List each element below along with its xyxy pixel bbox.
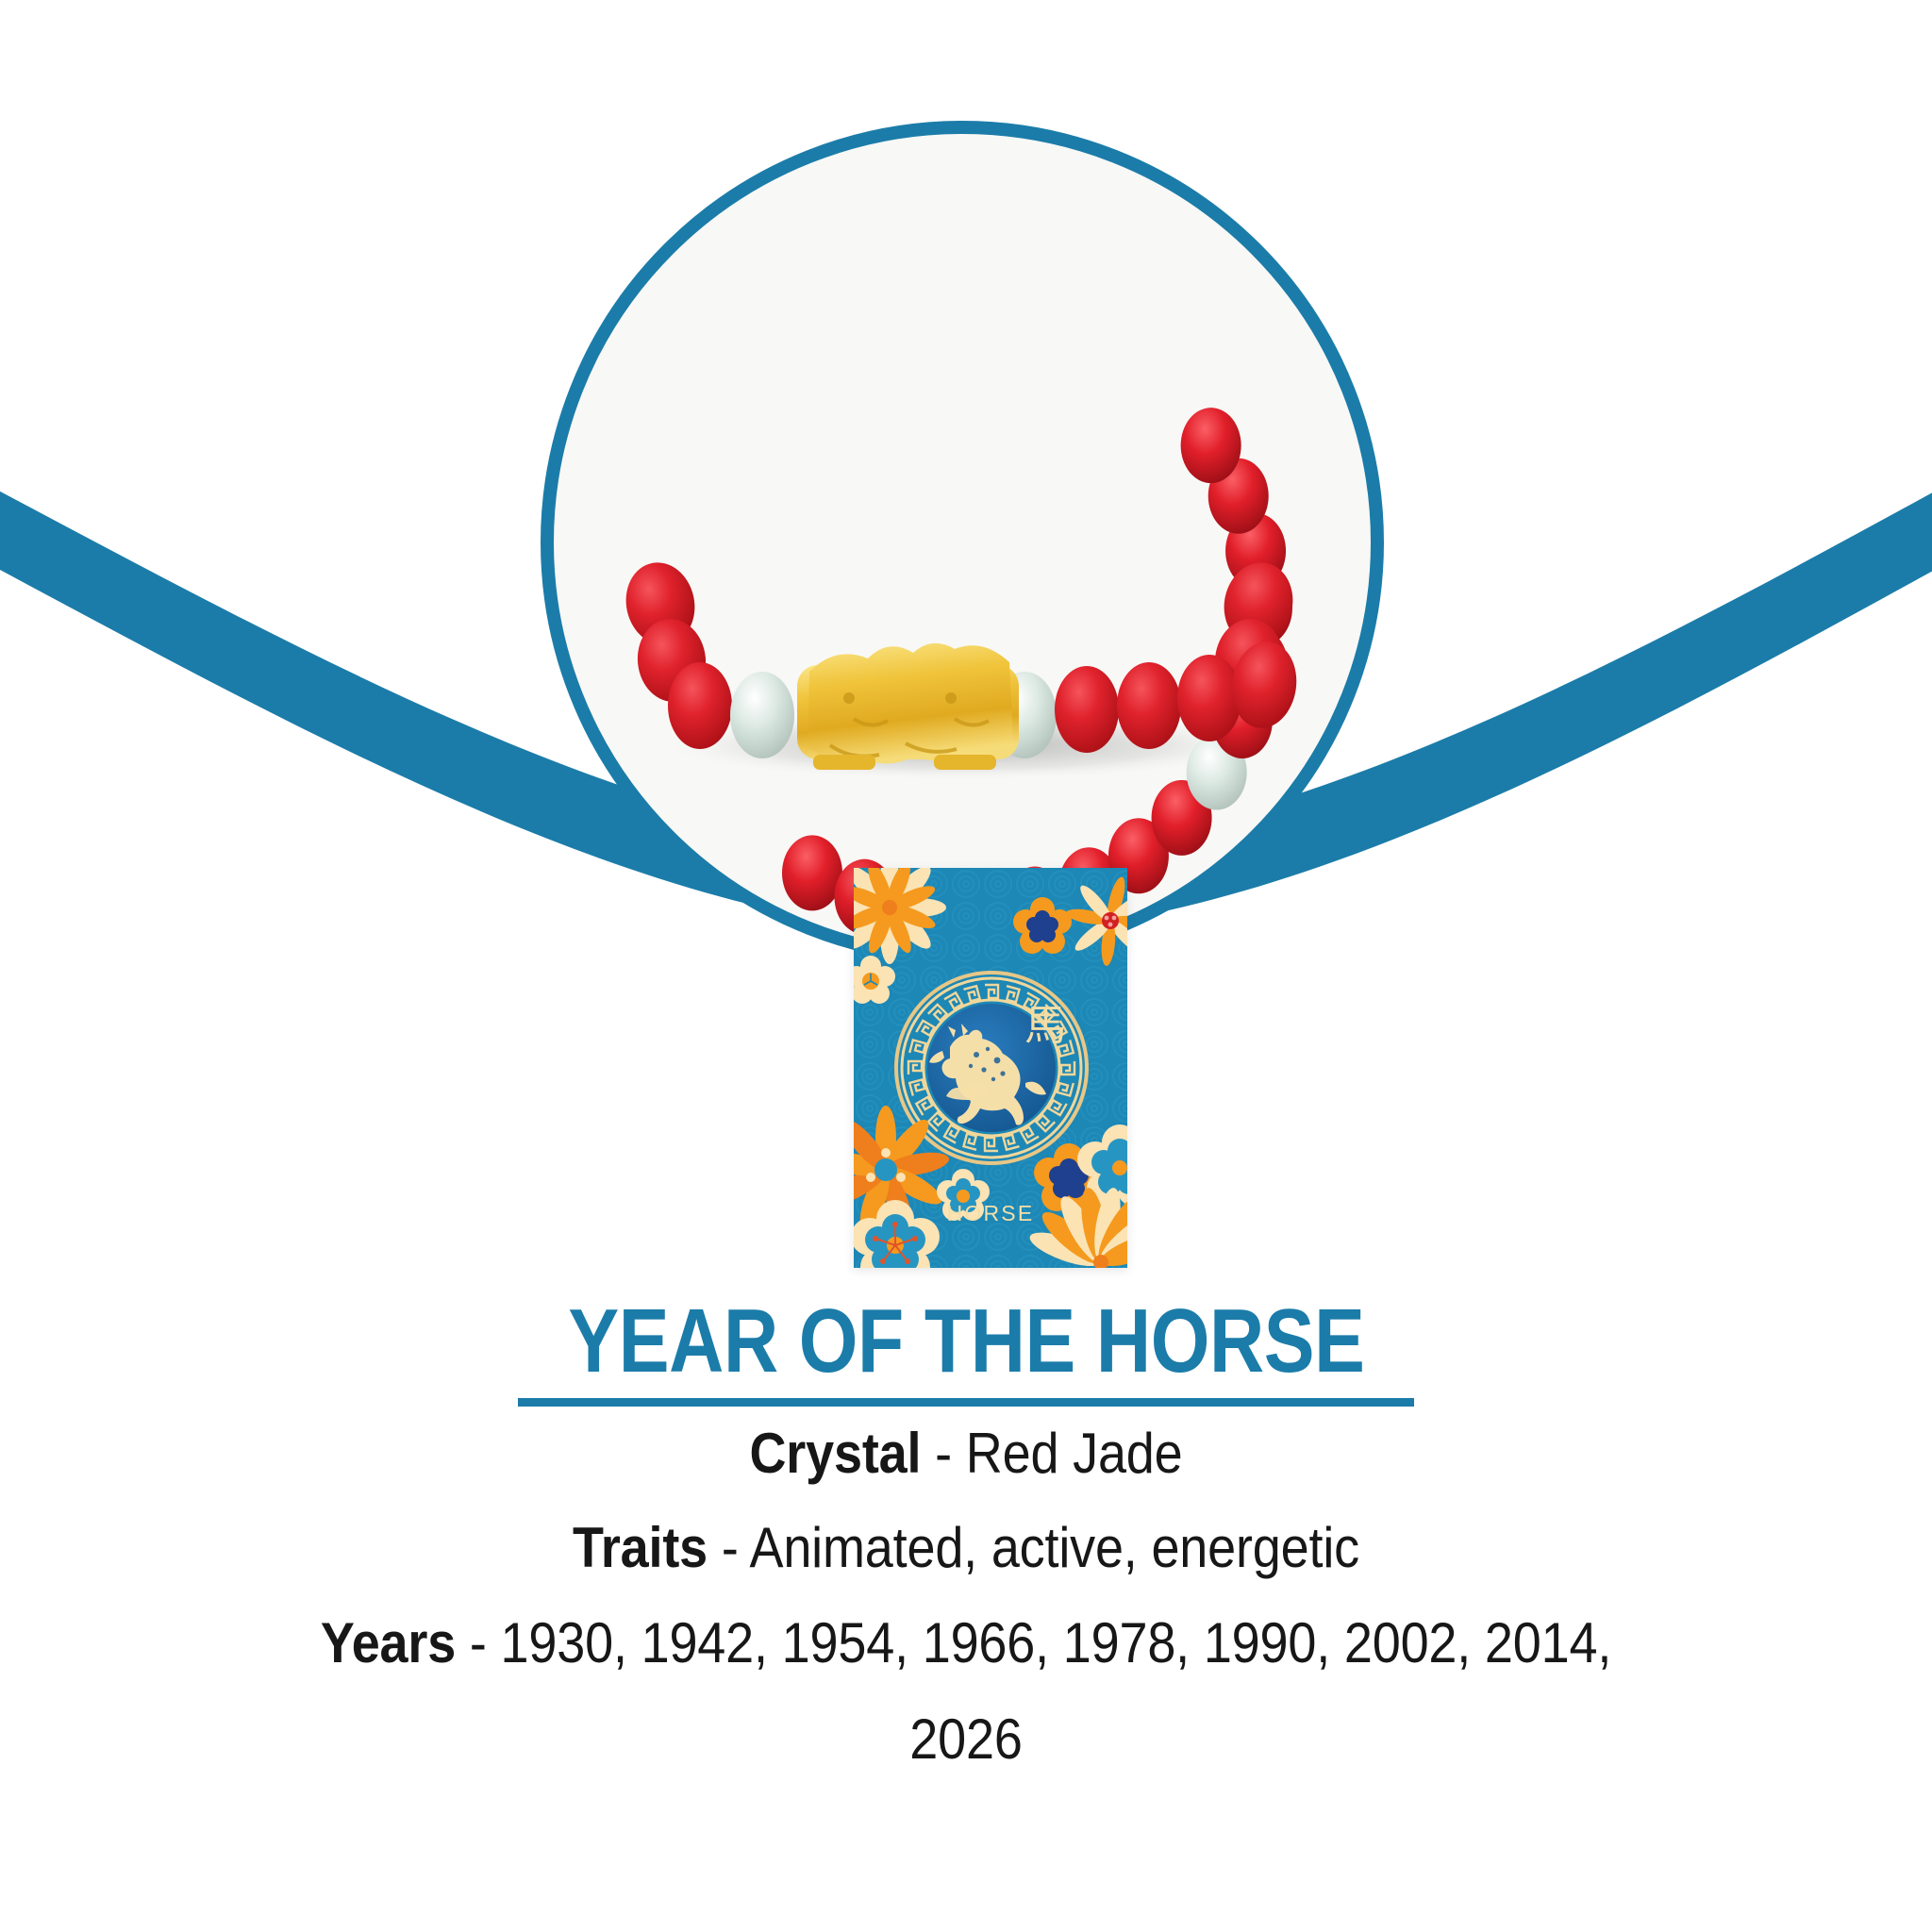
info-sep-years: - xyxy=(456,1611,500,1674)
info-row-crystal: Crystal - Red Jade xyxy=(96,1407,1835,1501)
info-row-traits: Traits - Animated, active, energetic xyxy=(96,1501,1835,1595)
info-key-crystal: Crystal xyxy=(749,1422,921,1485)
hero-graphic: 馬 HORSE xyxy=(0,0,1932,1292)
page-title-wrap: YEAR OF THE HORSE xyxy=(0,1292,1932,1407)
info-value-traits: Animated, active, energetic xyxy=(749,1516,1358,1579)
zodiac-animal-label: HORSE xyxy=(854,1201,1127,1226)
info-sep-traits: - xyxy=(708,1516,749,1579)
poster-canvas: 馬 HORSE YEAR OF THE HORSE Crystal - Red … xyxy=(0,0,1932,1932)
title-underline xyxy=(518,1398,1414,1407)
info-sep-crystal: - xyxy=(921,1422,965,1485)
page-title: YEAR OF THE HORSE xyxy=(568,1292,1364,1396)
info-text-block: YEAR OF THE HORSE Crystal - Red Jade Tra… xyxy=(0,1292,1932,1788)
info-row-years: Years - 1930, 1942, 1954, 1966, 1978, 19… xyxy=(304,1595,1628,1788)
pixiu-gold-charm xyxy=(797,643,1019,770)
zodiac-card-horse: 馬 HORSE xyxy=(854,868,1127,1268)
info-key-years: Years xyxy=(321,1611,456,1674)
info-key-traits: Traits xyxy=(573,1516,708,1579)
info-value-years: 1930, 1942, 1954, 1966, 1978, 1990, 2002… xyxy=(501,1611,1612,1771)
zodiac-hanzi-character: 馬 xyxy=(1012,1006,1078,1047)
info-value-crystal: Red Jade xyxy=(966,1422,1183,1485)
